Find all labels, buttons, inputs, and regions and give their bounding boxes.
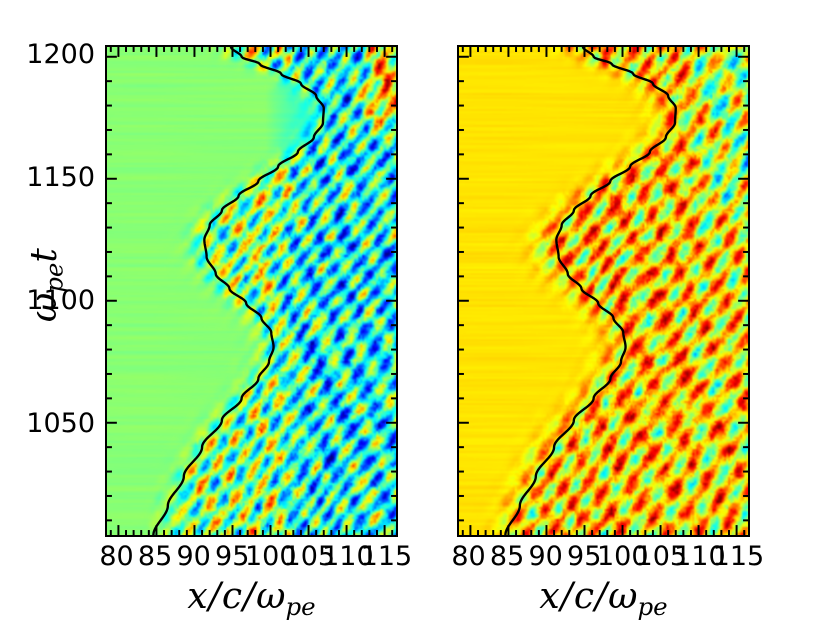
- left-panel-yaxis-label: ωpet: [27, 165, 67, 405]
- right-panel-plot-area[interactable]: [457, 45, 750, 537]
- right-panel-xaxis-label: x/c/ωpe: [407, 579, 800, 619]
- right-panel-heatmap: [459, 47, 750, 537]
- right-panel: [457, 45, 750, 537]
- left-panel-xticklabel: 115: [346, 543, 426, 570]
- left-panel-heatmap: [107, 47, 398, 537]
- figure-root: 808590951001051101151050110011501200x/c/…: [0, 0, 830, 618]
- left-panel-plot-area[interactable]: [105, 45, 398, 537]
- right-panel-xticklabel: 115: [698, 543, 778, 570]
- left-panel-xaxis-label: x/c/ωpe: [55, 579, 448, 619]
- left-panel: [105, 45, 398, 537]
- left-panel-yticklabel: 1050: [0, 410, 95, 437]
- left-panel-yticklabel: 1200: [0, 41, 95, 68]
